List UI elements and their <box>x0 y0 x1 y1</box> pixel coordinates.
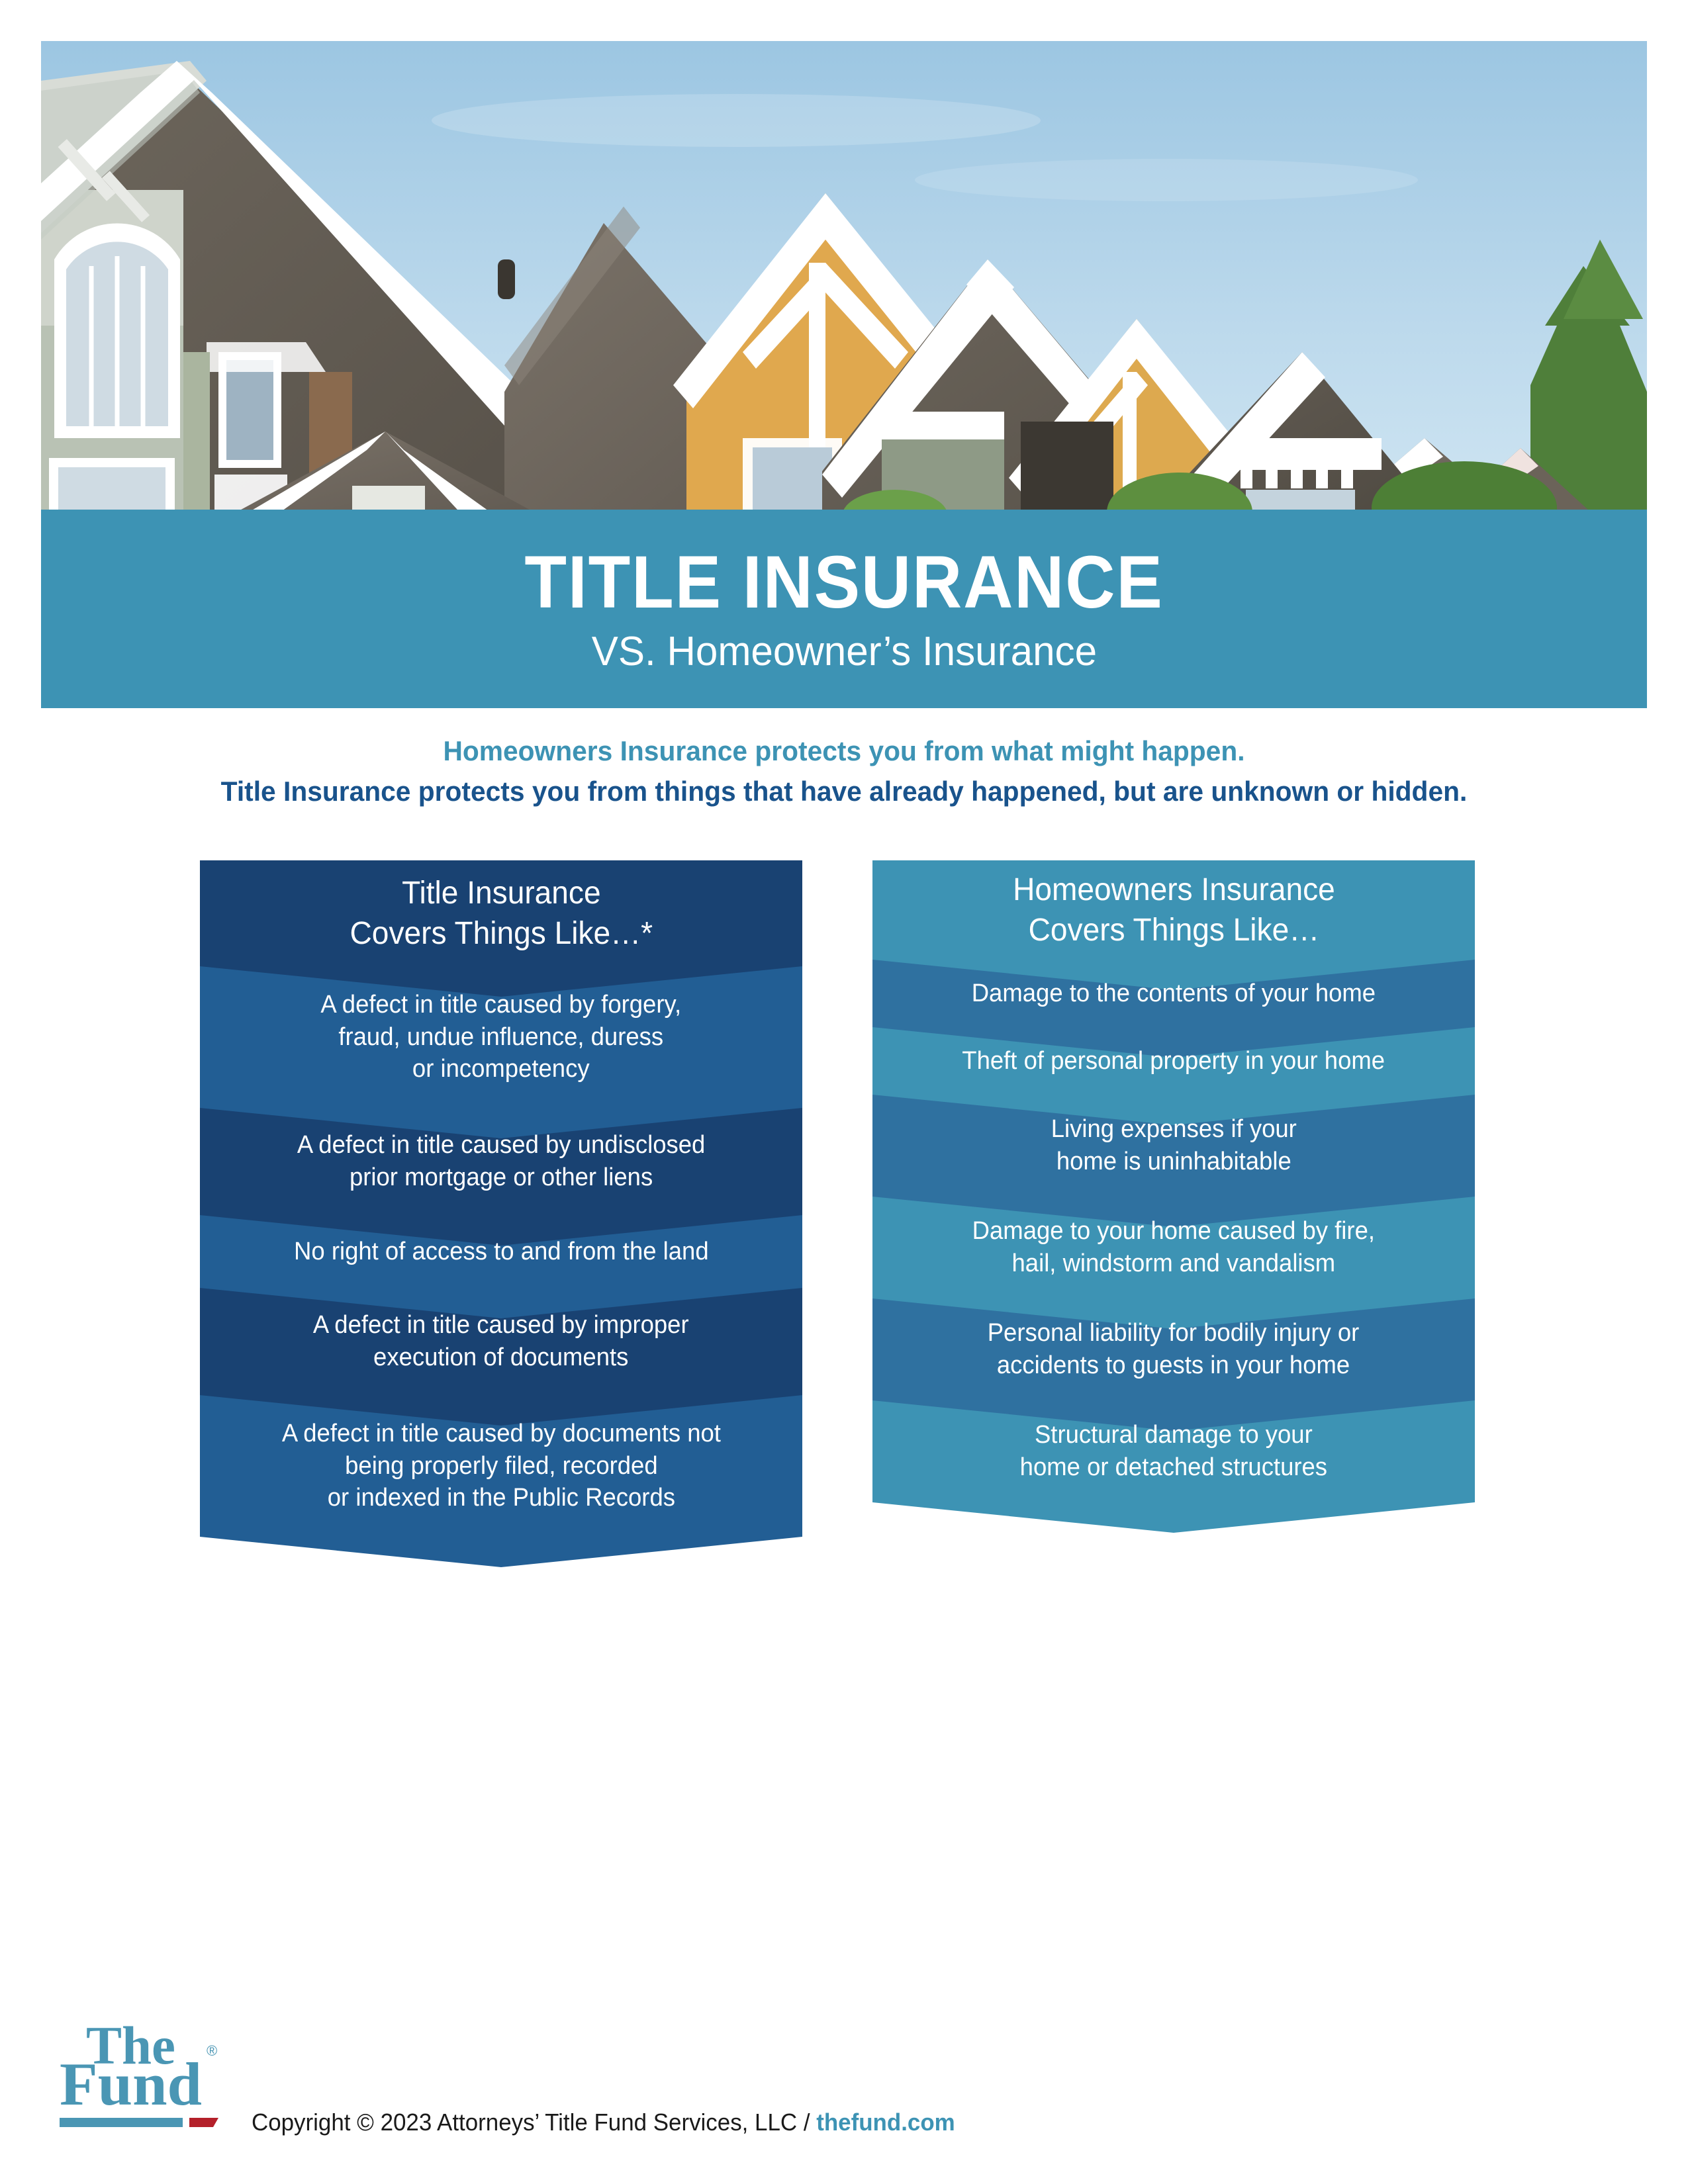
subhead-line-title: Title Insurance protects you from things… <box>25 772 1663 812</box>
title-insurance-column: Title InsuranceCovers Things Like…*A def… <box>200 860 802 1567</box>
coverage-item-label: Structural damage to yourhome or detache… <box>1011 1419 1336 1483</box>
houses-illustration <box>41 41 1647 518</box>
coverage-item-label: Damage to the contents of your home <box>962 978 1384 1010</box>
coverage-item-label: A defect in title caused by improperexec… <box>305 1309 698 1373</box>
the-fund-logo[interactable]: The Fund ® <box>60 2012 238 2138</box>
coverage-item-label: Theft of personal property in your home <box>953 1045 1394 1077</box>
coverage-item-label: A defect in title caused by forgery,frau… <box>312 989 690 1085</box>
column-header-homeowners-insurance: Homeowners InsuranceCovers Things Like… <box>872 860 1475 960</box>
column-header-label: Title InsuranceCovers Things Like…* <box>341 873 661 954</box>
website-link[interactable]: thefund.com <box>816 2109 955 2136</box>
chevron-notch-icon <box>200 1537 802 1567</box>
coverage-item-label: Living expenses if yourhome is uninhabit… <box>1042 1113 1305 1177</box>
coverage-item-label: A defect in title caused by undisclosedp… <box>288 1129 714 1193</box>
coverage-item-label: A defect in title caused by documents no… <box>273 1418 729 1514</box>
title-banner: TITLE INSURANCE VS. Homeowner’s Insuranc… <box>41 510 1647 708</box>
coverage-item-label: Damage to your home caused by fire,hail,… <box>963 1215 1383 1279</box>
column-header-label: Homeowners InsuranceCovers Things Like… <box>1004 870 1344 951</box>
homeowners-insurance-column: Homeowners InsuranceCovers Things Like…D… <box>872 860 1475 1533</box>
svg-text:Fund: Fund <box>60 2050 202 2118</box>
hero-photo <box>41 41 1647 518</box>
chevron-notch-icon <box>872 1502 1475 1533</box>
svg-text:®: ® <box>207 2042 217 2059</box>
column-header-title-insurance: Title InsuranceCovers Things Like…* <box>200 860 802 966</box>
coverage-item-label: No right of access to and from the land <box>285 1236 717 1268</box>
the-fund-logo-mark: The Fund ® <box>60 2012 238 2138</box>
subhead-line-homeowners: Homeowners Insurance protects you from w… <box>25 731 1663 772</box>
copyright-label: Copyright © 2023 Attorneys’ Title Fund S… <box>252 2109 816 2136</box>
subhead-block: Homeowners Insurance protects you from w… <box>0 731 1688 812</box>
copyright-text: Copyright © 2023 Attorneys’ Title Fund S… <box>252 2109 955 2136</box>
footer: The Fund ® Copyright © 2023 Attorneys’ T… <box>60 2012 1628 2158</box>
page-title: TITLE INSURANCE <box>524 543 1163 621</box>
page-subtitle: VS. Homeowner’s Insurance <box>591 629 1096 674</box>
coverage-item-label: Personal liability for bodily injury ora… <box>979 1317 1369 1381</box>
